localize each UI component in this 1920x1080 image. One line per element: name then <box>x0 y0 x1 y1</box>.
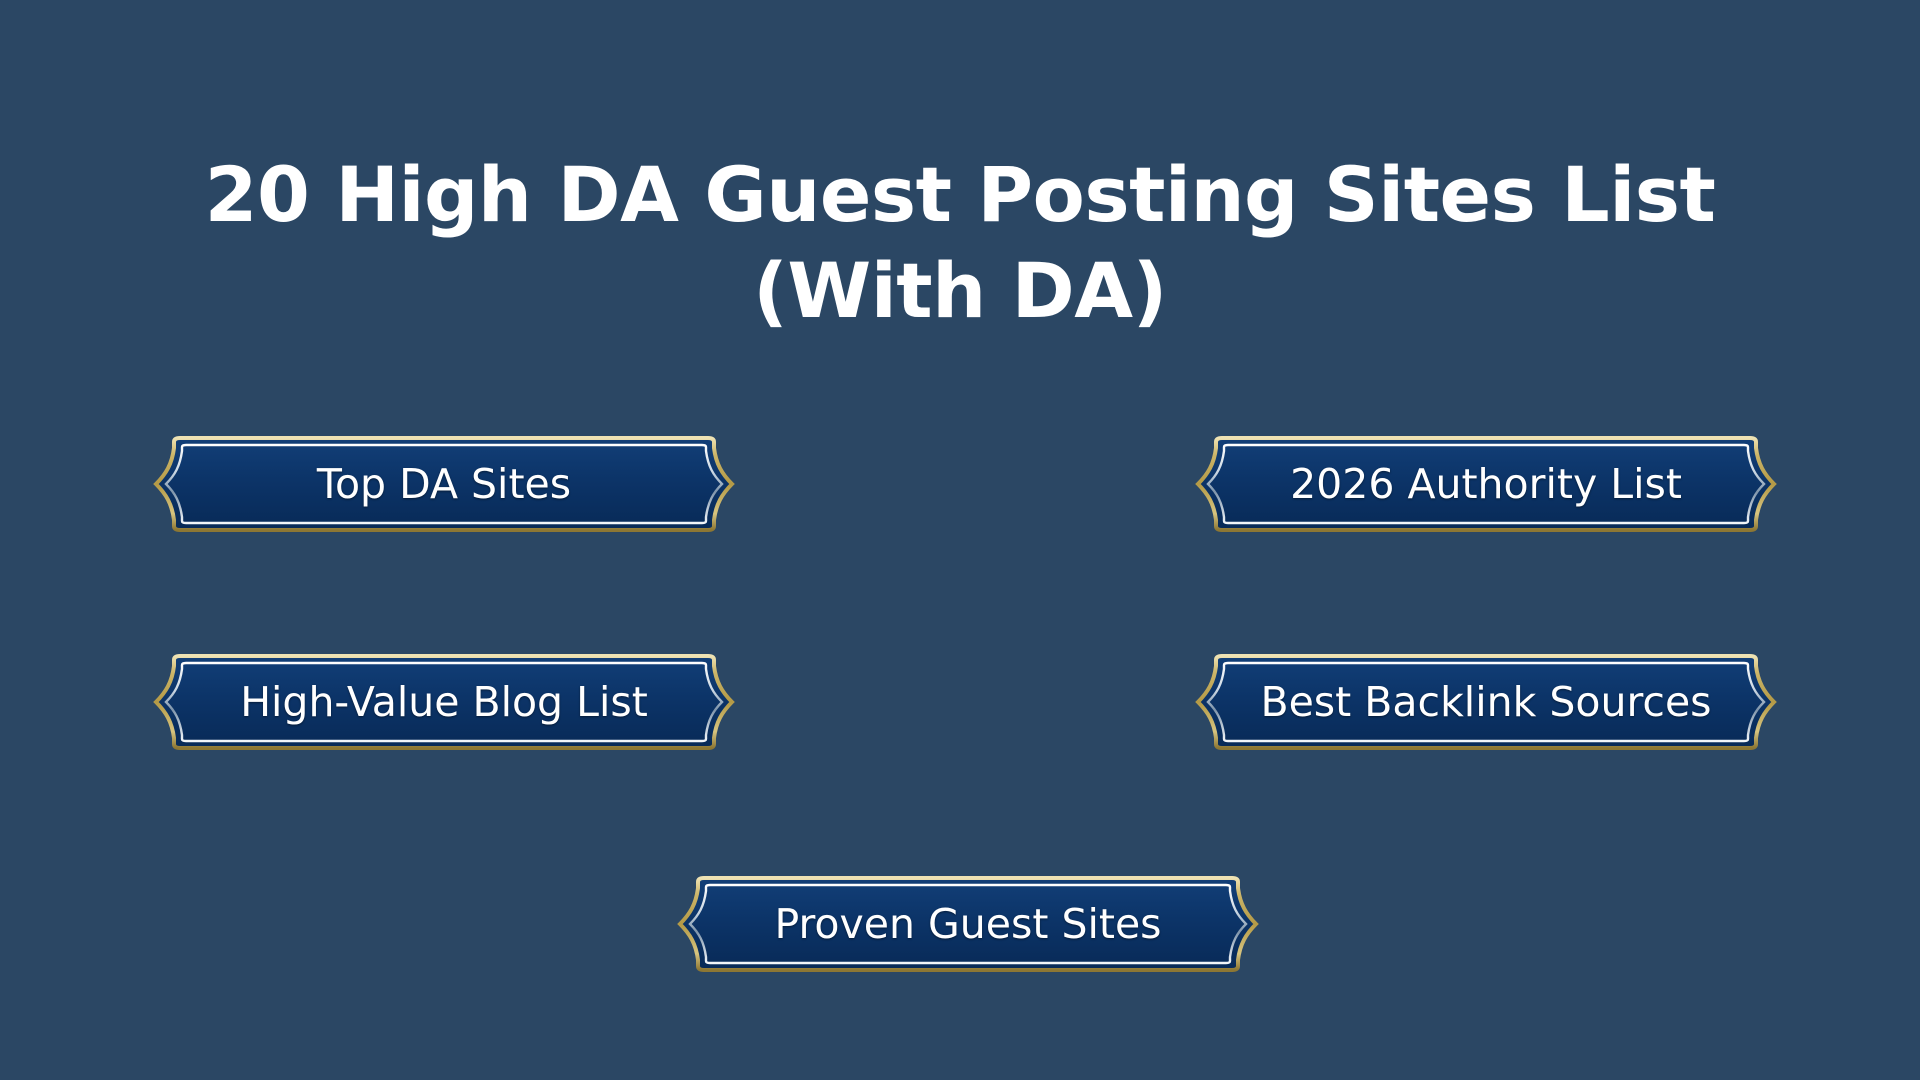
plaque-frame-icon <box>120 654 768 750</box>
slide-canvas: 20 High DA Guest Posting Sites List (Wit… <box>0 0 1920 1080</box>
button-best-backlink-sources[interactable]: Best Backlink Sources <box>1162 654 1810 750</box>
button-high-value-blog-list[interactable]: High-Value Blog List <box>120 654 768 750</box>
button-top-da-sites[interactable]: Top DA Sites <box>120 436 768 532</box>
plaque-frame-icon <box>1162 654 1810 750</box>
page-title-line-1: 20 High DA Guest Posting Sites List <box>0 147 1920 243</box>
plaque-frame-icon <box>1162 436 1810 532</box>
button-proven-guest-sites[interactable]: Proven Guest Sites <box>644 876 1292 972</box>
plaque-frame-icon <box>644 876 1292 972</box>
page-title: 20 High DA Guest Posting Sites List (Wit… <box>0 147 1920 339</box>
plaque-frame-icon <box>120 436 768 532</box>
page-title-line-2: (With DA) <box>0 243 1920 339</box>
button-2026-authority-list[interactable]: 2026 Authority List <box>1162 436 1810 532</box>
